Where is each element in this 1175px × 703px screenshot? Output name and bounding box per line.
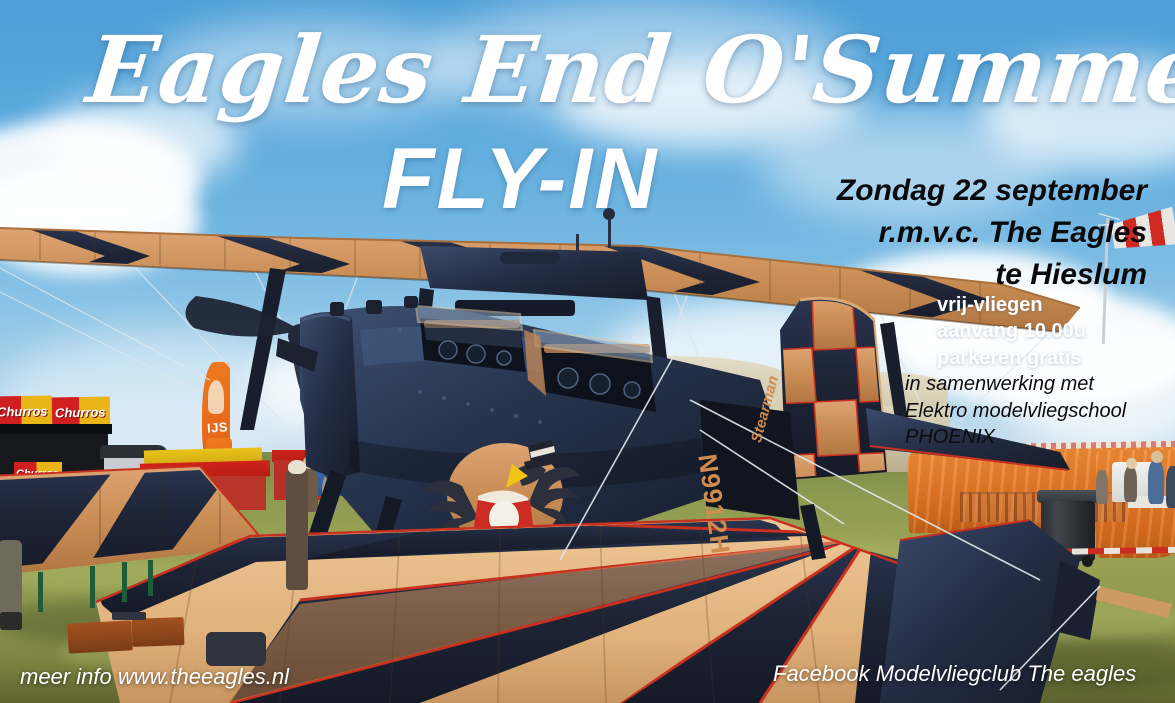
page-title-flyin: FLY-IN <box>382 136 658 222</box>
event-info-block: vrij-vliegen aanvang 10.00u parkeren gra… <box>827 292 1147 371</box>
event-date-location-block: Zondag 22 september r.m.v.c. The Eagles … <box>797 170 1147 296</box>
page-title-script: Eagles End O'Summer <box>83 22 1175 119</box>
facebook-footer[interactable]: Facebook Modelvliegclub The eagles <box>773 661 1136 687</box>
event-poster: Churros Churros Churros IJS IJS <box>0 0 1175 703</box>
partner-credit-block: in samenwerking met Elektro modelvliegsc… <box>905 371 1155 451</box>
website-footer[interactable]: meer info www.theeagles.nl <box>20 664 289 690</box>
